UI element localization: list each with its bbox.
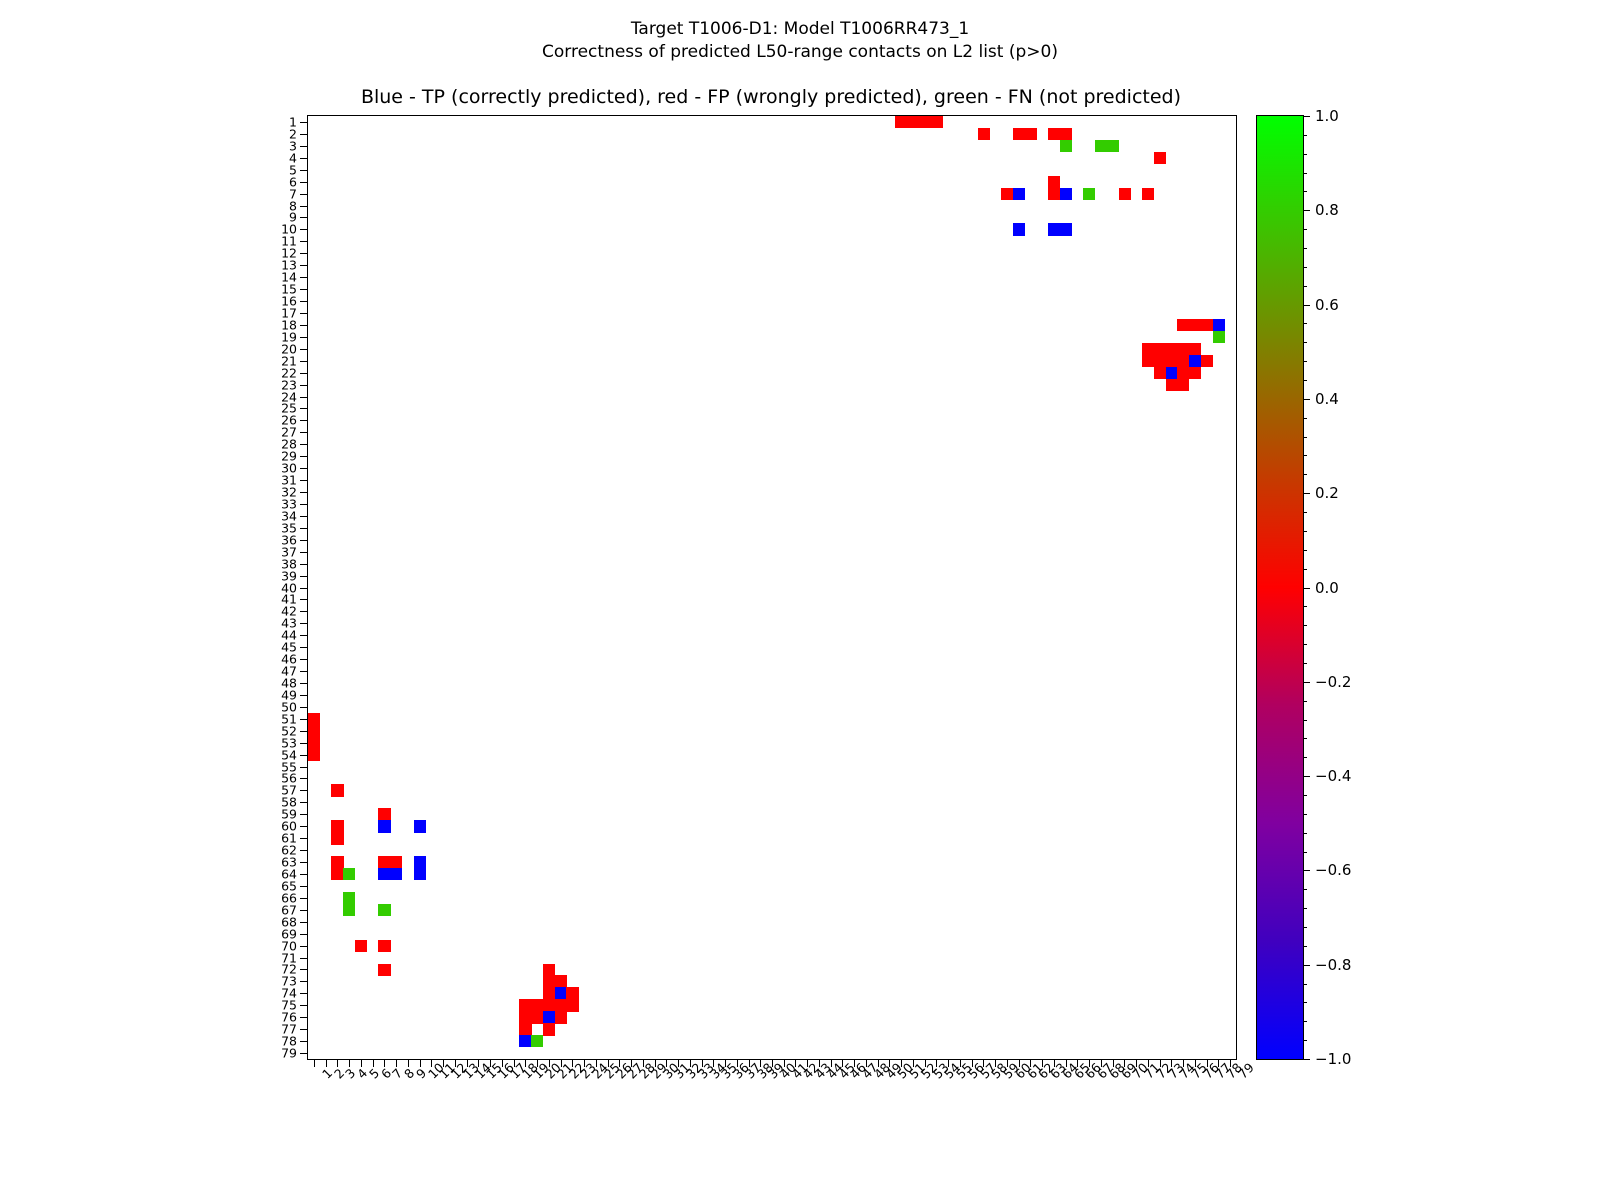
x-axis-tick [525, 1059, 526, 1067]
y-axis-tick [300, 480, 308, 481]
y-axis-tick [300, 1053, 308, 1054]
contact-cell [331, 820, 343, 832]
colorbar-tick-label: 0.6 [1315, 296, 1339, 314]
x-axis-tick [608, 1059, 609, 1067]
y-axis-tick [300, 361, 308, 362]
y-axis-tick [300, 743, 308, 744]
y-axis-tick [300, 158, 308, 159]
contact-cell [531, 999, 543, 1011]
contact-cell [1048, 188, 1060, 200]
contact-cell [308, 713, 320, 725]
contact-cell [308, 737, 320, 749]
colorbar-tick-label: 0.2 [1315, 484, 1339, 502]
contact-cell [390, 856, 402, 868]
contact-cell [919, 116, 931, 128]
contact-cell [1154, 343, 1166, 355]
x-axis-tick [655, 1059, 656, 1067]
colorbar-minor-tick [1303, 361, 1307, 362]
x-axis-tick [361, 1059, 362, 1067]
suptitle-line-1: Target T1006-D1: Model T1006RR473_1 [0, 18, 1600, 41]
colorbar-minor-tick [1303, 814, 1307, 815]
suptitle-line-2: Correctness of predicted L50-range conta… [0, 41, 1600, 64]
contact-cell [378, 856, 390, 868]
x-axis-tick [478, 1059, 479, 1067]
y-axis-tick [300, 456, 308, 457]
contact-cell [543, 999, 555, 1011]
colorbar-minor-tick [1303, 908, 1307, 909]
x-axis-tick [1030, 1059, 1031, 1067]
y-axis-tick [300, 122, 308, 123]
contact-cell [414, 856, 426, 868]
x-axis-tick [1089, 1059, 1090, 1067]
y-axis-tick [300, 778, 308, 779]
colorbar-minor-tick [1303, 437, 1307, 438]
contact-cell [308, 749, 320, 761]
contact-map-axes: 1234567891011121314151617181920212223242… [307, 115, 1237, 1060]
contact-cell [519, 1023, 531, 1035]
contact-cell [378, 808, 390, 820]
contact-cell [378, 820, 390, 832]
contact-cell [1166, 343, 1178, 355]
y-axis-tick [300, 719, 308, 720]
contact-cell [355, 940, 367, 952]
contact-cell [531, 1035, 543, 1047]
x-axis-tick [584, 1059, 585, 1067]
y-axis-tick [300, 588, 308, 589]
contact-cell [1154, 367, 1166, 379]
axes-title-legend: Blue - TP (correctly predicted), red - F… [307, 86, 1235, 108]
contact-map-figure: Target T1006-D1: Model T1006RR473_1 Corr… [0, 0, 1600, 1200]
contact-cell [555, 987, 567, 999]
x-axis-tick [901, 1059, 902, 1067]
x-axis-tick [690, 1059, 691, 1067]
x-axis-tick [760, 1059, 761, 1067]
x-axis-tick [396, 1059, 397, 1067]
y-axis-tick [300, 337, 308, 338]
colorbar-minor-tick [1303, 1040, 1307, 1041]
colorbar-tick-label: −0.8 [1315, 956, 1351, 974]
contact-cell [531, 1011, 543, 1023]
colorbar-minor-tick [1303, 644, 1307, 645]
y-axis-tick [300, 217, 308, 218]
x-axis-tick [995, 1059, 996, 1067]
x-axis-tick [326, 1059, 327, 1067]
colorbar-minor-tick [1303, 927, 1307, 928]
contact-cell [519, 1035, 531, 1047]
colorbar-minor-tick [1303, 1021, 1307, 1022]
contact-cell [1060, 223, 1072, 235]
y-axis-tick [300, 934, 308, 935]
x-axis-tick [537, 1059, 538, 1067]
y-axis-tick [300, 767, 308, 768]
y-axis-tick [300, 182, 308, 183]
y-axis-tick [300, 229, 308, 230]
y-axis-tick [300, 695, 308, 696]
x-axis-tick [1148, 1059, 1149, 1067]
y-axis-tick [300, 444, 308, 445]
y-axis-tick [300, 635, 308, 636]
x-axis-tick [549, 1059, 550, 1067]
contact-cell [555, 999, 567, 1011]
colorbar-minor-tick [1303, 889, 1307, 890]
x-axis-tick [1183, 1059, 1184, 1067]
colorbar-minor-tick [1303, 267, 1307, 268]
contact-cell [566, 999, 578, 1011]
x-axis-tick [925, 1059, 926, 1067]
y-axis-tick [300, 755, 308, 756]
y-axis-tick [300, 552, 308, 553]
x-axis-tick [936, 1059, 937, 1067]
y-axis-tick [300, 922, 308, 923]
colorbar-tick-label: −0.2 [1315, 673, 1351, 691]
contact-cell [1166, 355, 1178, 367]
y-axis-tick [300, 850, 308, 851]
contact-cell [343, 904, 355, 916]
x-axis-tick [1171, 1059, 1172, 1067]
y-axis-tick [300, 731, 308, 732]
contact-cell [555, 975, 567, 987]
contact-cell [1013, 128, 1025, 140]
contact-cell [1189, 355, 1201, 367]
y-axis-tick [300, 432, 308, 433]
colorbar-minor-tick [1303, 512, 1307, 513]
x-axis-tick [983, 1059, 984, 1067]
y-axis-tick [300, 349, 308, 350]
x-axis-tick [490, 1059, 491, 1067]
x-axis-tick [678, 1059, 679, 1067]
y-axis-tick [300, 707, 308, 708]
y-axis-tick [300, 528, 308, 529]
x-axis-tick [889, 1059, 890, 1067]
x-axis-tick [1066, 1059, 1067, 1067]
colorbar-tick [1303, 493, 1310, 494]
y-axis-tick [300, 564, 308, 565]
x-axis-tick [1160, 1059, 1161, 1067]
colorbar-minor-tick [1303, 1002, 1307, 1003]
colorbar-minor-tick [1303, 738, 1307, 739]
colorbar-minor-tick [1303, 795, 1307, 796]
colorbar-minor-tick [1303, 248, 1307, 249]
colorbar-tick [1303, 776, 1310, 777]
y-axis-tick [300, 969, 308, 970]
contact-cell [378, 904, 390, 916]
y-axis-tick [300, 134, 308, 135]
y-axis-tick [300, 313, 308, 314]
colorbar-minor-tick [1303, 701, 1307, 702]
x-axis-tick [1207, 1059, 1208, 1067]
colorbar-tick-label: 0.8 [1315, 201, 1339, 219]
x-axis-tick [561, 1059, 562, 1067]
colorbar-tick [1303, 588, 1310, 589]
x-axis-tick [772, 1059, 773, 1067]
x-axis-tick [913, 1059, 914, 1067]
y-axis-tick [300, 826, 308, 827]
x-axis-tick [737, 1059, 738, 1067]
colorbar-minor-tick [1303, 323, 1307, 324]
x-axis-tick [1195, 1059, 1196, 1067]
contact-cell [1189, 367, 1201, 379]
colorbar-minor-tick [1303, 569, 1307, 570]
contact-cell [1177, 343, 1189, 355]
colorbar-minor-tick [1303, 191, 1307, 192]
contact-cell [378, 868, 390, 880]
x-axis-tick [596, 1059, 597, 1067]
colorbar-minor-tick [1303, 135, 1307, 136]
y-axis-tick [300, 241, 308, 242]
contact-cell [1166, 379, 1178, 391]
contact-cell [1013, 223, 1025, 235]
colorbar-tick [1303, 1059, 1310, 1060]
y-axis-tick [300, 802, 308, 803]
y-axis-tick [300, 958, 308, 959]
y-axis-tick [300, 1005, 308, 1006]
contact-cell [331, 784, 343, 796]
y-axis-tick [300, 862, 308, 863]
y-axis-tick [300, 647, 308, 648]
x-axis-tick [373, 1059, 374, 1067]
colorbar-minor-tick [1303, 946, 1307, 947]
x-axis-tick [1218, 1059, 1219, 1067]
contact-cell [907, 116, 919, 128]
contact-cell [1060, 140, 1072, 152]
contact-cell [1142, 188, 1154, 200]
colorbar-minor-tick [1303, 173, 1307, 174]
x-axis-tick [384, 1059, 385, 1067]
contact-cell [1048, 223, 1060, 235]
colorbar-minor-tick [1303, 625, 1307, 626]
x-axis-tick [1230, 1059, 1231, 1067]
contact-cell [543, 964, 555, 976]
y-axis-tick [300, 194, 308, 195]
y-axis-tick [300, 408, 308, 409]
y-axis-tick [300, 170, 308, 171]
y-axis-tick [300, 981, 308, 982]
y-axis-tick [300, 874, 308, 875]
x-axis-tick [467, 1059, 468, 1067]
contact-cell [343, 868, 355, 880]
y-axis-tick [300, 946, 308, 947]
colorbar-minor-tick [1303, 852, 1307, 853]
x-axis-tick [349, 1059, 350, 1067]
y-axis-tick [300, 993, 308, 994]
y-axis-tick [300, 289, 308, 290]
y-axis-tick [300, 325, 308, 326]
contact-cell [543, 1011, 555, 1023]
colorbar-minor-tick [1303, 229, 1307, 230]
x-axis-tick [1077, 1059, 1078, 1067]
colorbar-tick [1303, 210, 1310, 211]
figure-suptitle: Target T1006-D1: Model T1006RR473_1 Corr… [0, 18, 1600, 64]
y-axis-tick [300, 1029, 308, 1030]
x-axis-tick [314, 1059, 315, 1067]
y-axis-tick [300, 206, 308, 207]
contact-cell [1177, 319, 1189, 331]
contact-cell [308, 725, 320, 737]
x-axis-tick [1007, 1059, 1008, 1067]
y-axis-tick [300, 265, 308, 266]
colorbar-minor-tick [1303, 455, 1307, 456]
y-axis-tick [300, 420, 308, 421]
contact-cell [1107, 140, 1119, 152]
contact-cell [1142, 355, 1154, 367]
x-axis-tick [1113, 1059, 1114, 1067]
x-axis-tick [854, 1059, 855, 1067]
contact-cell [378, 964, 390, 976]
x-axis-tick [619, 1059, 620, 1067]
y-axis-tick [300, 910, 308, 911]
colorbar-tick-label: 1.0 [1315, 107, 1339, 125]
colorbar-minor-tick [1303, 984, 1307, 985]
x-axis-tick [455, 1059, 456, 1067]
x-axis-tick [878, 1059, 879, 1067]
colorbar-tick [1303, 116, 1310, 117]
y-axis-tick [300, 397, 308, 398]
colorbar: 1.00.80.60.40.20.0−0.2−0.4−0.6−0.8−1.0 [1256, 115, 1304, 1060]
x-axis-tick [972, 1059, 973, 1067]
colorbar-minor-tick [1303, 286, 1307, 287]
y-axis-tick [300, 623, 308, 624]
colorbar-tick [1303, 682, 1310, 683]
y-axis-tick [300, 611, 308, 612]
contact-cell [1177, 379, 1189, 391]
y-axis-tick [300, 683, 308, 684]
x-axis-tick [795, 1059, 796, 1067]
x-axis-tick [666, 1059, 667, 1067]
y-axis-tick [300, 301, 308, 302]
x-axis-tick [1042, 1059, 1043, 1067]
y-axis-tick [300, 540, 308, 541]
contact-cell [331, 868, 343, 880]
colorbar-minor-tick [1303, 720, 1307, 721]
y-axis-tick [300, 277, 308, 278]
contact-cell [1189, 343, 1201, 355]
contact-cell [390, 868, 402, 880]
x-axis-tick [960, 1059, 961, 1067]
contact-cell [1048, 128, 1060, 140]
y-axis-tick [300, 516, 308, 517]
y-axis-tick [300, 504, 308, 505]
contact-cell [543, 1023, 555, 1035]
contact-cell [1201, 319, 1213, 331]
contact-cell [1013, 188, 1025, 200]
colorbar-minor-tick [1303, 380, 1307, 381]
x-axis-tick [337, 1059, 338, 1067]
y-axis-tick-label: 79 [281, 1046, 297, 1061]
y-axis-tick [300, 790, 308, 791]
colorbar-tick [1303, 965, 1310, 966]
x-axis-tick [1124, 1059, 1125, 1067]
x-axis-tick [749, 1059, 750, 1067]
x-axis-tick [831, 1059, 832, 1067]
y-axis-tick [300, 1041, 308, 1042]
contact-cell [566, 987, 578, 999]
contact-cell [378, 940, 390, 952]
y-axis-tick [300, 492, 308, 493]
y-axis-tick [300, 599, 308, 600]
colorbar-tick [1303, 399, 1310, 400]
contact-cell [1095, 140, 1107, 152]
colorbar-minor-tick [1303, 154, 1307, 155]
colorbar-tick-label: 0.0 [1315, 579, 1339, 597]
colorbar-tick [1303, 305, 1310, 306]
contact-cell [931, 116, 943, 128]
colorbar-minor-tick [1303, 606, 1307, 607]
colorbar-minor-tick [1303, 418, 1307, 419]
colorbar-tick-label: −0.6 [1315, 861, 1351, 879]
contact-cell [1213, 331, 1225, 343]
x-axis-tick [948, 1059, 949, 1067]
y-axis-tick [300, 659, 308, 660]
y-axis-tick [300, 468, 308, 469]
contact-cell [1166, 367, 1178, 379]
y-axis-tick [300, 814, 308, 815]
x-axis-tick [643, 1059, 644, 1067]
colorbar-tick-label: −1.0 [1315, 1050, 1351, 1068]
x-axis-tick [514, 1059, 515, 1067]
y-axis-tick [300, 253, 308, 254]
colorbar-minor-tick [1303, 474, 1307, 475]
contact-cell [543, 987, 555, 999]
contact-cell [1213, 319, 1225, 331]
colorbar-minor-tick [1303, 531, 1307, 532]
colorbar-minor-tick [1303, 550, 1307, 551]
y-axis-tick [300, 886, 308, 887]
contact-cell [1189, 319, 1201, 331]
y-axis-tick [300, 1017, 308, 1018]
y-axis-tick [300, 373, 308, 374]
x-axis-tick [1019, 1059, 1020, 1067]
x-axis-tick [408, 1059, 409, 1067]
colorbar-minor-tick [1303, 833, 1307, 834]
colorbar-minor-tick [1303, 342, 1307, 343]
contact-cell [1177, 367, 1189, 379]
x-axis-tick [1136, 1059, 1137, 1067]
contact-cell [1060, 188, 1072, 200]
x-axis-tick [502, 1059, 503, 1067]
contact-cell [1142, 343, 1154, 355]
y-axis-tick [300, 898, 308, 899]
x-axis-tick [725, 1059, 726, 1067]
contact-cell [555, 1011, 567, 1023]
contact-cell [331, 856, 343, 868]
contact-cell [1083, 188, 1095, 200]
colorbar-minor-tick [1303, 663, 1307, 664]
contact-cell [1154, 355, 1166, 367]
x-axis-tick [572, 1059, 573, 1067]
contact-cell [543, 975, 555, 987]
x-axis-tick [713, 1059, 714, 1067]
colorbar-tick [1303, 870, 1310, 871]
contact-cell [1025, 128, 1037, 140]
contact-cell [1119, 188, 1131, 200]
contact-cell [895, 116, 907, 128]
contact-cell [519, 1011, 531, 1023]
colorbar-tick-label: −0.4 [1315, 767, 1351, 785]
contact-cell [414, 868, 426, 880]
contact-cell [1048, 176, 1060, 188]
x-axis-tick [842, 1059, 843, 1067]
y-axis-tick [300, 838, 308, 839]
x-axis-tick [784, 1059, 785, 1067]
x-axis-tick [431, 1059, 432, 1067]
contact-cell [1201, 355, 1213, 367]
contact-cell [1060, 128, 1072, 140]
contact-cell [1177, 355, 1189, 367]
y-axis-tick [300, 671, 308, 672]
contact-map-cells [308, 116, 1236, 1059]
y-axis-tick [300, 146, 308, 147]
x-axis-tick-label: 1 [319, 1071, 330, 1082]
